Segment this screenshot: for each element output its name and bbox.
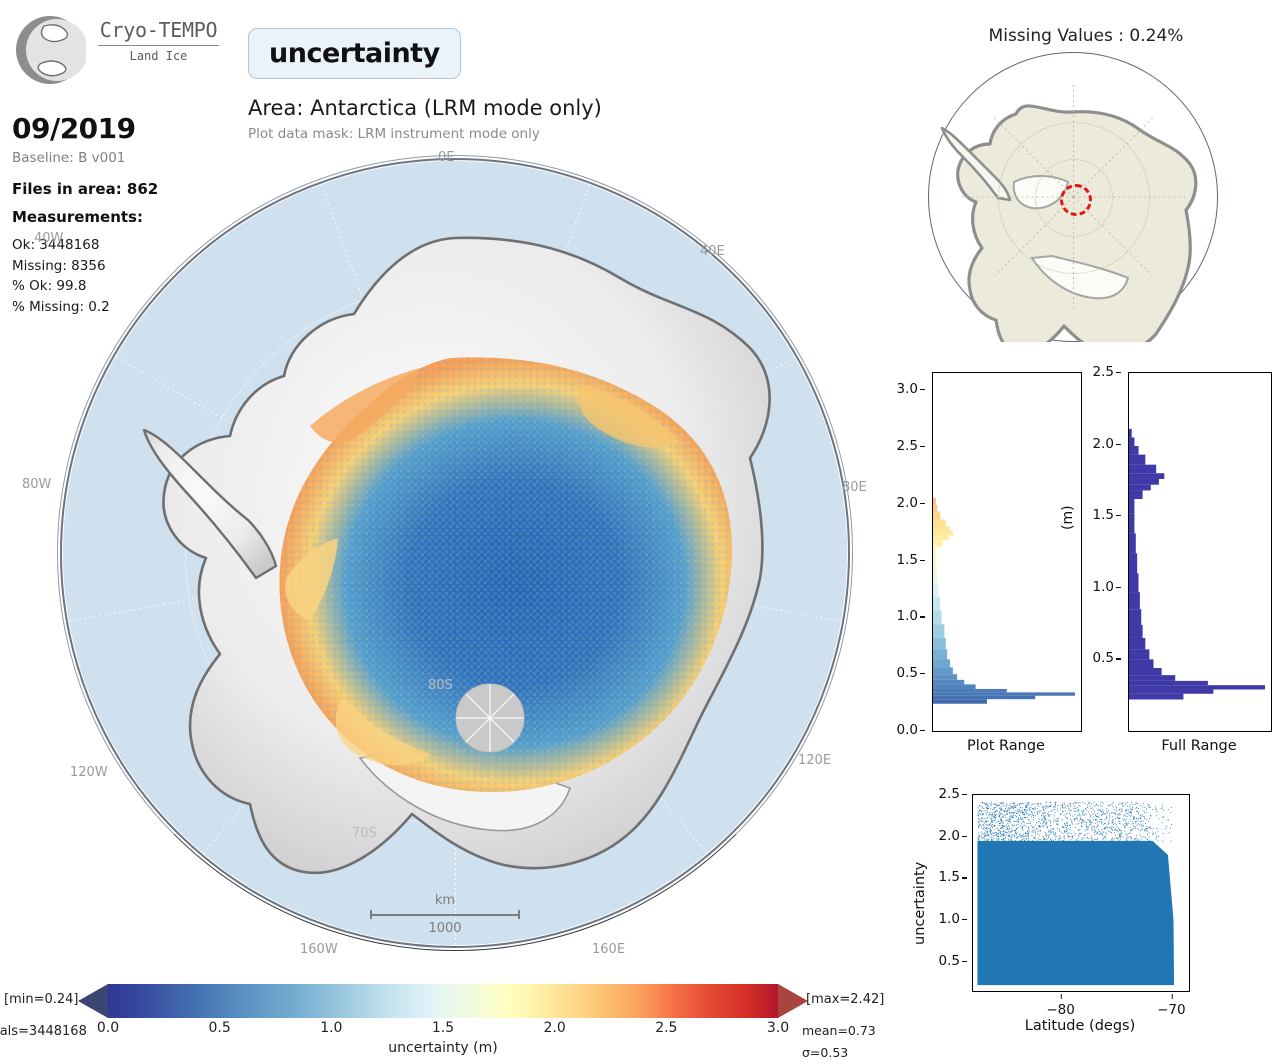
scatter-point bbox=[1010, 804, 1011, 805]
scatter-point bbox=[1037, 813, 1038, 814]
scatter-point bbox=[1027, 803, 1028, 804]
scatter-point bbox=[1083, 838, 1084, 839]
scatter-point bbox=[978, 825, 979, 826]
scatter-point bbox=[1009, 820, 1010, 821]
scatter-point bbox=[1075, 803, 1076, 804]
scatter-point bbox=[1095, 814, 1096, 815]
scatter-point bbox=[1113, 827, 1114, 828]
scatter-point bbox=[1009, 812, 1010, 813]
scatter-point bbox=[1038, 837, 1039, 838]
scatter-point bbox=[1035, 808, 1036, 809]
scatter-point bbox=[1018, 819, 1019, 820]
scatter-point bbox=[1004, 811, 1005, 812]
scatter-point bbox=[1082, 813, 1083, 814]
scatter-point bbox=[1006, 835, 1007, 836]
scatter-point bbox=[1089, 821, 1090, 822]
scatter-point bbox=[1007, 823, 1008, 824]
histogram-bar bbox=[933, 638, 946, 649]
scatter-point bbox=[1092, 840, 1093, 841]
scatter-point bbox=[981, 821, 982, 822]
scatter-point bbox=[1086, 829, 1087, 830]
scatter-point bbox=[1022, 830, 1023, 831]
scatter-point bbox=[1126, 834, 1127, 835]
scatter-point bbox=[1045, 824, 1046, 825]
scatter-point bbox=[987, 839, 988, 840]
scatter-point bbox=[1053, 806, 1054, 807]
scatter-point bbox=[1000, 823, 1001, 824]
plot-range-histogram[interactable] bbox=[932, 372, 1082, 732]
scatter-point bbox=[1143, 821, 1144, 822]
scatter-point bbox=[1062, 807, 1063, 808]
scatter-point bbox=[1050, 830, 1051, 831]
scatter-point bbox=[1000, 814, 1001, 815]
scatter-point bbox=[1072, 835, 1073, 836]
scatter-point bbox=[992, 826, 993, 827]
scatter-point bbox=[986, 818, 987, 819]
scatter-point bbox=[1048, 815, 1049, 816]
scatter-point bbox=[1044, 821, 1045, 822]
scatter-point bbox=[1028, 831, 1029, 832]
scatter-point bbox=[1112, 838, 1113, 839]
scatter-point bbox=[1109, 831, 1110, 832]
scatter-point bbox=[1065, 811, 1066, 812]
scatter-point bbox=[1037, 803, 1038, 804]
scatter-point bbox=[989, 814, 990, 815]
scatter-point bbox=[1136, 807, 1137, 808]
scatter-point bbox=[1103, 803, 1104, 804]
histogram-bar bbox=[933, 696, 1035, 699]
scatter-point bbox=[1083, 811, 1084, 812]
scatter-point bbox=[978, 834, 979, 835]
scatter-point bbox=[1138, 823, 1139, 824]
scatter-point bbox=[1027, 809, 1028, 810]
scatter-point bbox=[1102, 806, 1103, 807]
scatter-point bbox=[1007, 809, 1008, 810]
scatter-point bbox=[1153, 833, 1154, 834]
scatter-point bbox=[1072, 824, 1073, 825]
scatter-point bbox=[1146, 809, 1147, 810]
scatter-point bbox=[1069, 802, 1070, 803]
scatter-point bbox=[1047, 827, 1048, 828]
scatter-point bbox=[981, 834, 982, 835]
scatter-point bbox=[1028, 829, 1029, 830]
scatter-point bbox=[1044, 817, 1045, 818]
scatter-point bbox=[1080, 806, 1081, 807]
scatter-point bbox=[1162, 805, 1163, 806]
scatter-point bbox=[1049, 831, 1050, 832]
scatter-point bbox=[1114, 809, 1115, 810]
scatter-point bbox=[1022, 821, 1023, 822]
scatter-point bbox=[1064, 832, 1065, 833]
scatter-point bbox=[1014, 812, 1015, 813]
scatter-point bbox=[1122, 818, 1123, 819]
scatter-point bbox=[1072, 837, 1073, 838]
scatter-point bbox=[998, 816, 999, 817]
scatter-point bbox=[1096, 820, 1097, 821]
scatter-point bbox=[986, 814, 987, 815]
scatter-point bbox=[1117, 838, 1118, 839]
scatter-point bbox=[1046, 836, 1047, 837]
scatter-point bbox=[1028, 814, 1029, 815]
scatter-point bbox=[1000, 828, 1001, 829]
scatter-point bbox=[1049, 806, 1050, 807]
scatter-point bbox=[1012, 830, 1013, 831]
scatter-point bbox=[1087, 833, 1088, 834]
scatter-point bbox=[1038, 803, 1039, 804]
scatter-point bbox=[1126, 838, 1127, 839]
plot-range-bars bbox=[933, 373, 1081, 731]
scatter-point bbox=[1005, 815, 1006, 816]
scatter-point bbox=[1109, 815, 1110, 816]
scatter-point bbox=[1125, 811, 1126, 812]
scatter-point bbox=[1104, 819, 1105, 820]
scatter-point bbox=[1062, 811, 1063, 812]
scatter-point bbox=[1090, 820, 1091, 821]
scatter-point bbox=[1131, 823, 1132, 824]
scatter-point bbox=[1112, 840, 1113, 841]
scatter-point bbox=[985, 828, 986, 829]
scatter-point bbox=[1007, 832, 1008, 833]
scatter-point bbox=[1097, 833, 1098, 834]
scatter-point bbox=[996, 810, 997, 811]
scatter-point bbox=[1101, 819, 1102, 820]
scatter-point bbox=[1077, 815, 1078, 816]
scatter-point bbox=[1111, 839, 1112, 840]
scatter-point bbox=[1009, 828, 1010, 829]
scatter-point bbox=[1156, 815, 1157, 816]
scatter-point bbox=[981, 818, 982, 819]
scatter-point bbox=[1024, 822, 1025, 823]
scatter-point bbox=[1101, 814, 1102, 815]
scatter-point bbox=[984, 827, 985, 828]
scatter-point bbox=[1046, 839, 1047, 840]
scatter-point bbox=[1071, 833, 1072, 834]
scatter-point bbox=[1026, 810, 1027, 811]
scatter-point bbox=[1022, 807, 1023, 808]
scatter-point bbox=[1050, 825, 1051, 826]
scatter-point bbox=[1070, 815, 1071, 816]
scatter-point bbox=[1094, 802, 1095, 803]
histogram-bar bbox=[933, 555, 937, 570]
scatter-point bbox=[1088, 819, 1089, 820]
scatter-point bbox=[1028, 840, 1029, 841]
full-range-histogram[interactable] bbox=[1128, 372, 1272, 732]
scatter-point bbox=[1057, 810, 1058, 811]
logo-title: Cryo-TEMPO bbox=[96, 18, 221, 42]
scatter-point bbox=[983, 808, 984, 809]
scatter-point bbox=[978, 833, 979, 834]
scatter-point bbox=[1035, 833, 1036, 834]
scatter-point bbox=[1124, 827, 1125, 828]
scatter-point bbox=[1102, 839, 1103, 840]
scatter-point bbox=[1050, 839, 1051, 840]
scatter-point bbox=[1065, 807, 1066, 808]
scatter-point bbox=[1021, 818, 1022, 819]
scatter-point bbox=[1019, 805, 1020, 806]
scatter-point bbox=[998, 839, 999, 840]
scatter-point bbox=[997, 833, 998, 834]
histogram-bar bbox=[1129, 659, 1153, 668]
scatter-point bbox=[1090, 806, 1091, 807]
scatter-point bbox=[1022, 835, 1023, 836]
scatter-point bbox=[1126, 810, 1127, 811]
scatter-point bbox=[1010, 816, 1011, 817]
scatter-point bbox=[1075, 811, 1076, 812]
scatter-point bbox=[1092, 808, 1093, 809]
scatter-point bbox=[1002, 831, 1003, 832]
scatter-point bbox=[1019, 819, 1020, 820]
scatter-point bbox=[1041, 804, 1042, 805]
scatter-point bbox=[994, 809, 995, 810]
scatter-point bbox=[1130, 836, 1131, 837]
lon-label-80w: 80W bbox=[22, 477, 51, 492]
scatter-point bbox=[1056, 824, 1057, 825]
scatter-point bbox=[1021, 836, 1022, 837]
scatter-point bbox=[1135, 828, 1136, 829]
scatter-point bbox=[1074, 806, 1075, 807]
scatter-point bbox=[1001, 834, 1002, 835]
scatter-point bbox=[1121, 832, 1122, 833]
scatter-point bbox=[1109, 827, 1110, 828]
scatter-point bbox=[1043, 836, 1044, 837]
scatter-point bbox=[1147, 834, 1148, 835]
scatter-point bbox=[991, 802, 992, 803]
colorbar[interactable]: [min=0.24] [max=2.42] vals=3448168 mean=… bbox=[0, 978, 900, 1058]
lon-label-40e: 40E bbox=[700, 244, 725, 259]
scatter-point bbox=[1091, 835, 1092, 836]
scatter-point bbox=[1011, 829, 1012, 830]
histogram-bar bbox=[1129, 455, 1145, 465]
scatter-point bbox=[1088, 802, 1089, 803]
scatter-point bbox=[1144, 818, 1145, 819]
scatter-point bbox=[1011, 815, 1012, 816]
scatter-point bbox=[979, 841, 980, 842]
scatter-point bbox=[1014, 835, 1015, 836]
colorbar-axis-label: uncertainty (m) bbox=[108, 1040, 778, 1056]
histogram-bar bbox=[933, 611, 942, 625]
scatter-point bbox=[1037, 808, 1038, 809]
scatter-point bbox=[1048, 836, 1049, 837]
scatter-point bbox=[999, 811, 1000, 812]
scatter-point bbox=[1048, 807, 1049, 808]
scatter-point bbox=[1102, 835, 1103, 836]
scatter-point bbox=[1138, 812, 1139, 813]
scatter-point bbox=[1022, 819, 1023, 820]
scatter-point bbox=[1009, 827, 1010, 828]
scatter-point bbox=[1082, 837, 1083, 838]
scatter-point bbox=[1023, 821, 1024, 822]
scatter-point bbox=[1130, 805, 1131, 806]
scatter-point bbox=[1086, 825, 1087, 826]
scatter-point bbox=[1013, 803, 1014, 804]
scatter-point bbox=[978, 822, 979, 823]
scatter-point bbox=[1008, 821, 1009, 822]
scatter-point bbox=[1070, 819, 1071, 820]
scatter-point bbox=[1066, 829, 1067, 830]
scatter-point bbox=[1046, 822, 1047, 823]
colorbar-tick: 3.0 bbox=[767, 1020, 789, 1036]
scatter-point bbox=[1086, 826, 1087, 827]
scale-bar-value: 1000 bbox=[370, 921, 520, 936]
scatter-point bbox=[993, 818, 994, 819]
scatter-point bbox=[987, 807, 988, 808]
scatter-point bbox=[1031, 812, 1032, 813]
scatter-point bbox=[1080, 819, 1081, 820]
scatter-point bbox=[1027, 823, 1028, 824]
scatter-point bbox=[1033, 817, 1034, 818]
scatter-point bbox=[1002, 803, 1003, 804]
scatter-point bbox=[1014, 836, 1015, 837]
scatter-point bbox=[1059, 818, 1060, 819]
scatter-point bbox=[1026, 839, 1027, 840]
scatter-x-axis-label: Latitude (degs) bbox=[972, 1018, 1188, 1034]
scatter-point bbox=[1018, 811, 1019, 812]
axis-tick-label: 2.5 bbox=[897, 438, 918, 454]
scatter-point bbox=[998, 805, 999, 806]
scatter-point bbox=[1024, 824, 1025, 825]
scatter-point bbox=[1081, 811, 1082, 812]
scatter-point bbox=[1149, 832, 1150, 833]
scatter-point bbox=[1082, 814, 1083, 815]
inset-meridian-180 bbox=[1073, 85, 1074, 197]
scatter-point bbox=[996, 822, 997, 823]
scatter-point bbox=[982, 824, 983, 825]
scatter-point bbox=[987, 835, 988, 836]
scatter-point bbox=[1055, 836, 1056, 837]
scatter-point bbox=[1035, 834, 1036, 835]
scatter-point bbox=[1033, 837, 1034, 838]
scatter-point bbox=[1012, 824, 1013, 825]
scatter-point bbox=[1106, 811, 1107, 812]
scatter-point bbox=[1060, 809, 1061, 810]
scatter-point bbox=[1043, 816, 1044, 817]
scatter-point bbox=[1119, 829, 1120, 830]
scatter-point bbox=[1166, 826, 1167, 827]
scatter-point bbox=[1134, 840, 1135, 841]
scatter-point bbox=[1115, 835, 1116, 836]
scatter-point bbox=[1122, 803, 1123, 804]
antarctica-polar-map[interactable]: 80S 70S km 1000 bbox=[60, 158, 850, 948]
scatter-point bbox=[1065, 806, 1066, 807]
scatter-point bbox=[1145, 823, 1146, 824]
scatter-point bbox=[1137, 828, 1138, 829]
scatter-point bbox=[1110, 804, 1111, 805]
scatter-point bbox=[1078, 840, 1079, 841]
scatter-point bbox=[1030, 821, 1031, 822]
scatter-point bbox=[1143, 803, 1144, 804]
scatter-point bbox=[1059, 836, 1060, 837]
scatter-point bbox=[1059, 831, 1060, 832]
uncertainty-vs-latitude-scatter[interactable] bbox=[972, 794, 1190, 992]
scatter-point bbox=[978, 811, 979, 812]
scatter-point bbox=[1135, 804, 1136, 805]
scatter-point bbox=[991, 818, 992, 819]
scatter-point bbox=[978, 815, 979, 816]
scatter-point bbox=[1114, 813, 1115, 814]
scatter-point bbox=[982, 811, 983, 812]
scatter-point bbox=[1095, 815, 1096, 816]
scatter-point bbox=[1030, 809, 1031, 810]
scatter-point bbox=[1118, 828, 1119, 829]
scatter-point bbox=[1130, 811, 1131, 812]
missing-values-inset-map[interactable] bbox=[928, 52, 1218, 342]
scatter-point bbox=[1046, 802, 1047, 803]
scatter-point bbox=[1106, 834, 1107, 835]
scatter-point bbox=[1026, 836, 1027, 837]
scatter-point bbox=[1058, 805, 1059, 806]
missing-values-title: Missing Values : 0.24% bbox=[900, 26, 1272, 46]
scatter-point bbox=[978, 807, 979, 808]
scatter-point bbox=[1136, 838, 1137, 839]
scatter-point bbox=[1068, 837, 1069, 838]
scatter-point bbox=[1139, 834, 1140, 835]
scatter-point bbox=[1074, 814, 1075, 815]
plot-range-y-ticks: 0.00.51.01.52.02.53.0 bbox=[888, 372, 926, 730]
scatter-point bbox=[1070, 825, 1071, 826]
scatter-point bbox=[1079, 833, 1080, 834]
scatter-point bbox=[1064, 838, 1065, 839]
scatter-point bbox=[1118, 838, 1119, 839]
scatter-point bbox=[1141, 829, 1142, 830]
scatter-point bbox=[1008, 819, 1009, 820]
scatter-point bbox=[999, 830, 1000, 831]
scatter-point bbox=[987, 825, 988, 826]
scatter-point bbox=[1001, 825, 1002, 826]
scatter-point bbox=[1083, 810, 1084, 811]
scatter-point bbox=[1124, 819, 1125, 820]
scatter-point bbox=[991, 822, 992, 823]
scatter-point bbox=[1149, 840, 1150, 841]
scatter-point bbox=[1039, 825, 1040, 826]
scatter-point bbox=[1093, 817, 1094, 818]
scatter-point bbox=[1011, 806, 1012, 807]
scatter-point bbox=[1139, 840, 1140, 841]
scatter-point bbox=[1123, 805, 1124, 806]
scatter-point bbox=[1023, 838, 1024, 839]
scatter-point bbox=[1105, 829, 1106, 830]
scatter-point bbox=[979, 820, 980, 821]
scatter-point bbox=[1062, 826, 1063, 827]
scatter-point bbox=[1080, 815, 1081, 816]
scatter-point bbox=[1011, 831, 1012, 832]
scatter-point bbox=[1013, 808, 1014, 809]
colorbar-max-cap bbox=[778, 984, 808, 1018]
scatter-point bbox=[1087, 805, 1088, 806]
scatter-point bbox=[1014, 834, 1015, 835]
scatter-point bbox=[1034, 827, 1035, 828]
scatter-point bbox=[1094, 805, 1095, 806]
colorbar-sigma-label: σ=0.53 bbox=[802, 1042, 876, 1064]
scatter-point bbox=[1135, 802, 1136, 803]
colorbar-gradient[interactable] bbox=[108, 984, 778, 1018]
scatter-point bbox=[1162, 816, 1163, 817]
scatter-point bbox=[1054, 809, 1055, 810]
scatter-point bbox=[1050, 802, 1051, 803]
scatter-point bbox=[1048, 814, 1049, 815]
scatter-point bbox=[1156, 811, 1157, 812]
scatter-point bbox=[1015, 833, 1016, 834]
scatter-point bbox=[1043, 814, 1044, 815]
scatter-point bbox=[1158, 818, 1159, 819]
scatter-point bbox=[1135, 838, 1136, 839]
logo-subtitle: Land Ice bbox=[96, 48, 221, 64]
scatter-point bbox=[990, 824, 991, 825]
scatter-point bbox=[1000, 810, 1001, 811]
scatter-point bbox=[1129, 822, 1130, 823]
scatter-point bbox=[1019, 809, 1020, 810]
scatter-point bbox=[1121, 811, 1122, 812]
scatter-point bbox=[1006, 805, 1007, 806]
